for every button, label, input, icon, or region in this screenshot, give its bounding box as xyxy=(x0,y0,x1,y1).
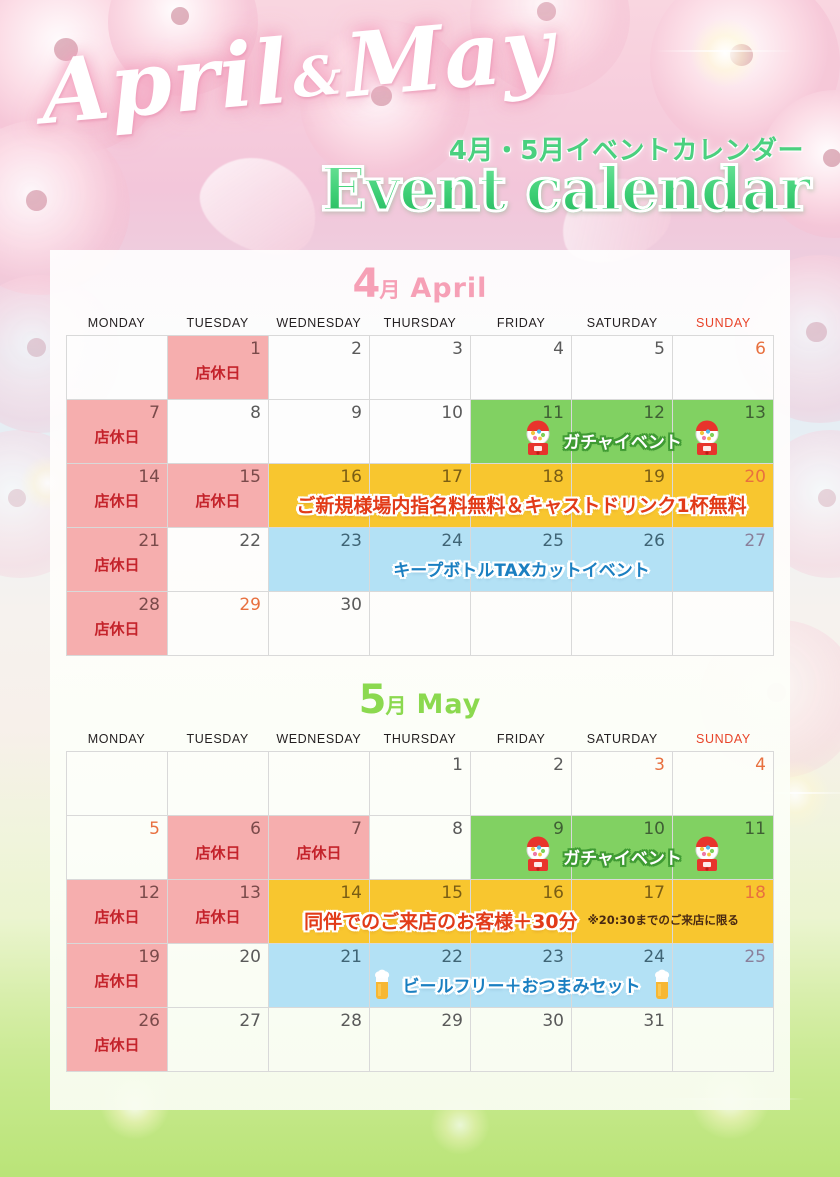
day-number: 17 xyxy=(643,883,665,903)
day-cell[interactable]: 5 xyxy=(572,336,673,400)
april-section: 4月April MONDAYTUESDAYWEDNESDAYTHURSDAYFR… xyxy=(50,250,790,656)
day-number: 13 xyxy=(239,883,261,903)
header-title-april: April xyxy=(37,19,293,144)
day-number: 7 xyxy=(351,819,362,839)
day-number: 20 xyxy=(239,947,261,967)
day-cell[interactable]: 31 xyxy=(572,1008,673,1072)
day-cell-empty[interactable] xyxy=(572,592,673,656)
day-number: 29 xyxy=(239,595,261,615)
day-cell[interactable]: 4 xyxy=(673,752,774,816)
closed-day-label: 店休日 xyxy=(269,842,369,863)
closed-day-label: 店休日 xyxy=(168,362,268,383)
day-cell[interactable]: 11 xyxy=(471,400,572,464)
day-cell[interactable]: 10 xyxy=(572,816,673,880)
day-number: 24 xyxy=(643,947,665,967)
day-cell[interactable]: 11 xyxy=(673,816,774,880)
weekday-label-monday: MONDAY xyxy=(66,316,167,335)
day-cell[interactable]: 29 xyxy=(168,592,269,656)
day-cell[interactable]: 30 xyxy=(269,592,370,656)
day-number: 11 xyxy=(542,403,564,423)
day-cell[interactable]: 22 xyxy=(370,944,471,1008)
day-number: 10 xyxy=(441,403,463,423)
day-number: 16 xyxy=(340,467,362,487)
day-cell[interactable]: 19店休日 xyxy=(67,944,168,1008)
day-cell-empty[interactable] xyxy=(673,1008,774,1072)
header-title-ampersand: & xyxy=(286,42,349,111)
closed-day-label: 店休日 xyxy=(168,490,268,511)
day-number: 4 xyxy=(755,755,766,775)
day-number: 27 xyxy=(239,1011,261,1031)
day-number: 19 xyxy=(643,467,665,487)
day-number: 6 xyxy=(250,819,261,839)
page-header: April&May 4月・5月イベントカレンダー Event calendar xyxy=(0,0,840,250)
day-number: 9 xyxy=(553,819,564,839)
day-number: 30 xyxy=(542,1011,564,1031)
april-month-english: April xyxy=(410,273,487,304)
day-number: 14 xyxy=(138,467,160,487)
day-cell-empty[interactable] xyxy=(471,592,572,656)
day-number: 22 xyxy=(239,531,261,551)
weekday-label-thursday: THURSDAY xyxy=(369,732,470,751)
day-cell[interactable]: 2 xyxy=(269,336,370,400)
day-number: 8 xyxy=(452,819,463,839)
day-number: 4 xyxy=(553,339,564,359)
day-cell[interactable]: 1 xyxy=(370,752,471,816)
may-month-number: 5 xyxy=(359,677,386,723)
weekday-label-tuesday: TUESDAY xyxy=(167,732,268,751)
day-cell[interactable]: 27 xyxy=(673,528,774,592)
day-cell[interactable]: 16 xyxy=(269,464,370,528)
day-number: 3 xyxy=(654,755,665,775)
day-number: 8 xyxy=(250,403,261,423)
weekday-label-monday: MONDAY xyxy=(66,732,167,751)
day-cell[interactable]: 20 xyxy=(168,944,269,1008)
weekday-label-thursday: THURSDAY xyxy=(369,316,470,335)
closed-day-label: 店休日 xyxy=(168,906,268,927)
day-cell[interactable]: 26店休日 xyxy=(67,1008,168,1072)
weekday-label-saturday: SATURDAY xyxy=(572,732,673,751)
day-cell[interactable]: 29 xyxy=(370,1008,471,1072)
day-cell-empty[interactable] xyxy=(269,752,370,816)
day-number: 26 xyxy=(138,1011,160,1031)
weekday-label-friday: FRIDAY xyxy=(471,732,572,751)
day-number: 28 xyxy=(340,1011,362,1031)
day-cell[interactable]: 4 xyxy=(471,336,572,400)
day-number: 5 xyxy=(149,819,160,839)
day-number: 26 xyxy=(643,531,665,551)
day-number: 14 xyxy=(340,883,362,903)
day-cell[interactable]: 20 xyxy=(673,464,774,528)
may-month-title: 5月May xyxy=(66,680,774,720)
day-cell[interactable]: 16 xyxy=(471,880,572,944)
day-cell[interactable]: 23 xyxy=(269,528,370,592)
day-cell[interactable]: 18 xyxy=(471,464,572,528)
day-number: 25 xyxy=(744,947,766,967)
day-cell[interactable]: 17 xyxy=(572,880,673,944)
day-cell[interactable]: 9 xyxy=(269,400,370,464)
april-month-kanji: 月 xyxy=(379,278,400,302)
april-weekday-header: MONDAYTUESDAYWEDNESDAYTHURSDAYFRIDAYSATU… xyxy=(66,316,774,335)
may-month-english: May xyxy=(416,689,481,720)
day-cell[interactable]: 7店休日 xyxy=(67,400,168,464)
day-number: 17 xyxy=(441,467,463,487)
weekday-label-saturday: SATURDAY xyxy=(572,316,673,335)
day-cell[interactable]: 27 xyxy=(168,1008,269,1072)
closed-day-label: 店休日 xyxy=(67,490,167,511)
day-cell[interactable]: 12 xyxy=(572,400,673,464)
day-cell[interactable]: 13 xyxy=(673,400,774,464)
day-number: 24 xyxy=(441,531,463,551)
day-cell[interactable]: 6店休日 xyxy=(168,816,269,880)
day-cell-empty[interactable] xyxy=(168,752,269,816)
day-cell[interactable]: 15 xyxy=(370,880,471,944)
day-cell[interactable]: 12店休日 xyxy=(67,880,168,944)
calendar-panel: 4月April MONDAYTUESDAYWEDNESDAYTHURSDAYFR… xyxy=(50,250,790,1110)
closed-day-label: 店休日 xyxy=(67,554,167,575)
closed-day-label: 店休日 xyxy=(67,1034,167,1055)
day-cell[interactable]: 5 xyxy=(67,816,168,880)
day-cell[interactable]: 1店休日 xyxy=(168,336,269,400)
closed-day-label: 店休日 xyxy=(67,970,167,991)
day-cell[interactable]: 14店休日 xyxy=(67,464,168,528)
day-cell[interactable]: 18 xyxy=(673,880,774,944)
closed-day-label: 店休日 xyxy=(67,906,167,927)
day-number: 30 xyxy=(340,595,362,615)
may-section: 5月May MONDAYTUESDAYWEDNESDAYTHURSDAYFRID… xyxy=(50,656,790,1072)
day-number: 3 xyxy=(452,339,463,359)
day-number: 18 xyxy=(744,883,766,903)
weekday-label-wednesday: WEDNESDAY xyxy=(268,316,369,335)
day-cell[interactable]: 6 xyxy=(673,336,774,400)
day-number: 25 xyxy=(542,531,564,551)
weekday-label-wednesday: WEDNESDAY xyxy=(268,732,369,751)
closed-day-label: 店休日 xyxy=(168,842,268,863)
day-number: 2 xyxy=(351,339,362,359)
day-number: 27 xyxy=(744,531,766,551)
day-cell[interactable]: 28店休日 xyxy=(67,592,168,656)
day-number: 15 xyxy=(441,883,463,903)
day-number: 11 xyxy=(744,819,766,839)
day-cell[interactable]: 30 xyxy=(471,1008,572,1072)
day-cell[interactable]: 25 xyxy=(471,528,572,592)
weekday-label-friday: FRIDAY xyxy=(471,316,572,335)
april-grid: 1店休日234567店休日891011121314店休日15店休日1617181… xyxy=(66,335,774,656)
day-number: 22 xyxy=(441,947,463,967)
day-cell-empty[interactable] xyxy=(67,336,168,400)
day-cell[interactable]: 9 xyxy=(471,816,572,880)
day-cell[interactable]: 2 xyxy=(471,752,572,816)
header-script-title: April&May xyxy=(37,0,603,136)
day-number: 18 xyxy=(542,467,564,487)
day-number: 29 xyxy=(441,1011,463,1031)
day-number: 20 xyxy=(744,467,766,487)
day-cell[interactable]: 7店休日 xyxy=(269,816,370,880)
day-cell[interactable]: 22 xyxy=(168,528,269,592)
day-cell-empty[interactable] xyxy=(370,592,471,656)
day-cell[interactable]: 21 xyxy=(269,944,370,1008)
day-number: 7 xyxy=(149,403,160,423)
day-number: 10 xyxy=(643,819,665,839)
day-number: 9 xyxy=(351,403,362,423)
day-cell[interactable]: 21店休日 xyxy=(67,528,168,592)
day-number: 1 xyxy=(250,339,261,359)
day-cell[interactable]: 8 xyxy=(168,400,269,464)
weekday-label-tuesday: TUESDAY xyxy=(167,316,268,335)
day-number: 21 xyxy=(138,531,160,551)
day-number: 23 xyxy=(340,531,362,551)
day-cell[interactable]: 14 xyxy=(269,880,370,944)
day-cell[interactable]: 10 xyxy=(370,400,471,464)
day-number: 12 xyxy=(643,403,665,423)
day-number: 31 xyxy=(643,1011,665,1031)
may-weekday-header: MONDAYTUESDAYWEDNESDAYTHURSDAYFRIDAYSATU… xyxy=(66,732,774,751)
day-cell[interactable]: 19 xyxy=(572,464,673,528)
day-cell[interactable]: 25 xyxy=(673,944,774,1008)
day-cell[interactable]: 28 xyxy=(269,1008,370,1072)
day-cell[interactable]: 23 xyxy=(471,944,572,1008)
may-grid: 123456店休日7店休日89101112店休日13店休日14151617181… xyxy=(66,751,774,1072)
day-number: 16 xyxy=(542,883,564,903)
day-number: 2 xyxy=(553,755,564,775)
closed-day-label: 店休日 xyxy=(67,426,167,447)
day-number: 23 xyxy=(542,947,564,967)
day-number: 21 xyxy=(340,947,362,967)
day-number: 15 xyxy=(239,467,261,487)
day-cell[interactable]: 8 xyxy=(370,816,471,880)
day-cell[interactable]: 3 xyxy=(572,752,673,816)
weekday-label-sunday: SUNDAY xyxy=(673,732,774,751)
day-number: 6 xyxy=(755,339,766,359)
day-cell[interactable]: 15店休日 xyxy=(168,464,269,528)
day-number: 28 xyxy=(138,595,160,615)
day-cell-empty[interactable] xyxy=(673,592,774,656)
day-cell[interactable]: 13店休日 xyxy=(168,880,269,944)
header-english-title: Event calendar xyxy=(321,160,810,220)
may-month-kanji: 月 xyxy=(385,694,406,718)
day-number: 19 xyxy=(138,947,160,967)
weekday-label-sunday: SUNDAY xyxy=(673,316,774,335)
day-cell[interactable]: 26 xyxy=(572,528,673,592)
day-cell[interactable]: 24 xyxy=(370,528,471,592)
april-month-number: 4 xyxy=(353,261,380,307)
header-title-may: May xyxy=(341,0,558,118)
day-cell[interactable]: 24 xyxy=(572,944,673,1008)
day-number: 5 xyxy=(654,339,665,359)
closed-day-label: 店休日 xyxy=(67,618,167,639)
day-cell[interactable]: 17 xyxy=(370,464,471,528)
day-number: 13 xyxy=(744,403,766,423)
day-cell-empty[interactable] xyxy=(67,752,168,816)
day-number: 12 xyxy=(138,883,160,903)
day-cell[interactable]: 3 xyxy=(370,336,471,400)
day-number: 1 xyxy=(452,755,463,775)
april-month-title: 4月April xyxy=(66,264,774,304)
